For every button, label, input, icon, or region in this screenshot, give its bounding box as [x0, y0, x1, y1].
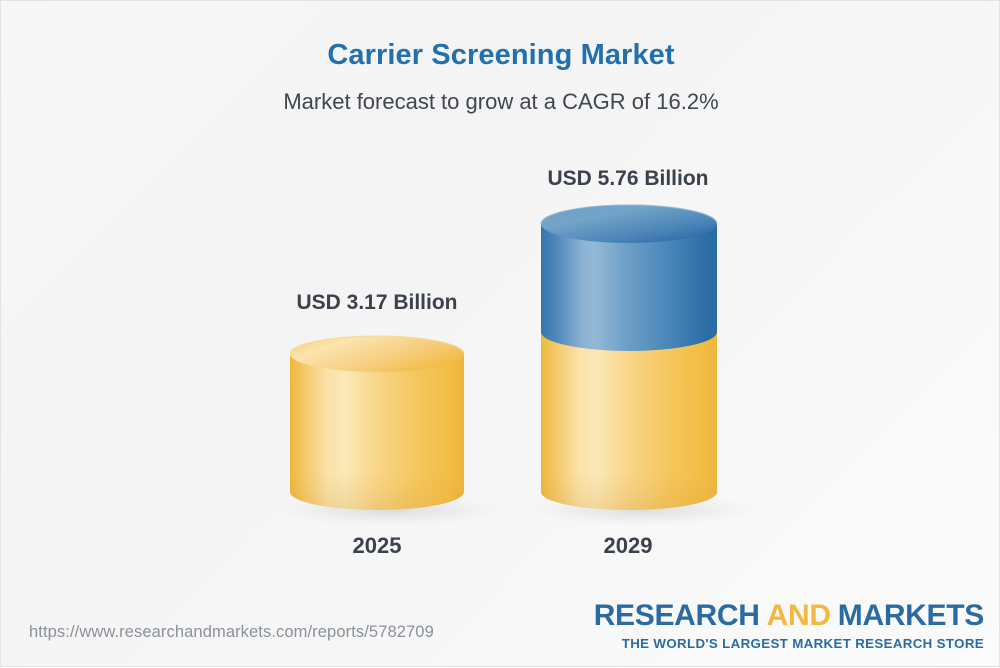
value-label-2029: USD 5.76 Billion [508, 167, 748, 191]
research-and-markets-logo[interactable]: RESEARCHANDMARKETS THE WORLD'S LARGEST M… [594, 601, 984, 650]
cylinder-2029-growth-body [541, 224, 717, 351]
logo-word-and: AND [767, 599, 831, 632]
logo-word-markets: MARKETS [838, 599, 984, 632]
chart-canvas: Carrier Screening Market Market forecast… [0, 0, 1000, 667]
logo-wordmark: RESEARCHANDMARKETS [594, 601, 984, 631]
value-label-2025: USD 3.17 Billion [257, 291, 497, 315]
cylinder-2029 [541, 205, 717, 510]
cylinder-chart-graphic [1, 1, 1000, 668]
cylinder-2025-bottom-shade [290, 472, 464, 510]
cylinder-2029-bottom-shade [541, 472, 717, 510]
category-label-2029: 2029 [508, 533, 748, 559]
logo-tagline: THE WORLD'S LARGEST MARKET RESEARCH STOR… [594, 637, 984, 650]
category-label-2025: 2025 [257, 533, 497, 559]
cylinder-2025 [290, 336, 464, 510]
source-url[interactable]: https://www.researchandmarkets.com/repor… [29, 623, 434, 642]
logo-word-research: RESEARCH [594, 599, 760, 632]
